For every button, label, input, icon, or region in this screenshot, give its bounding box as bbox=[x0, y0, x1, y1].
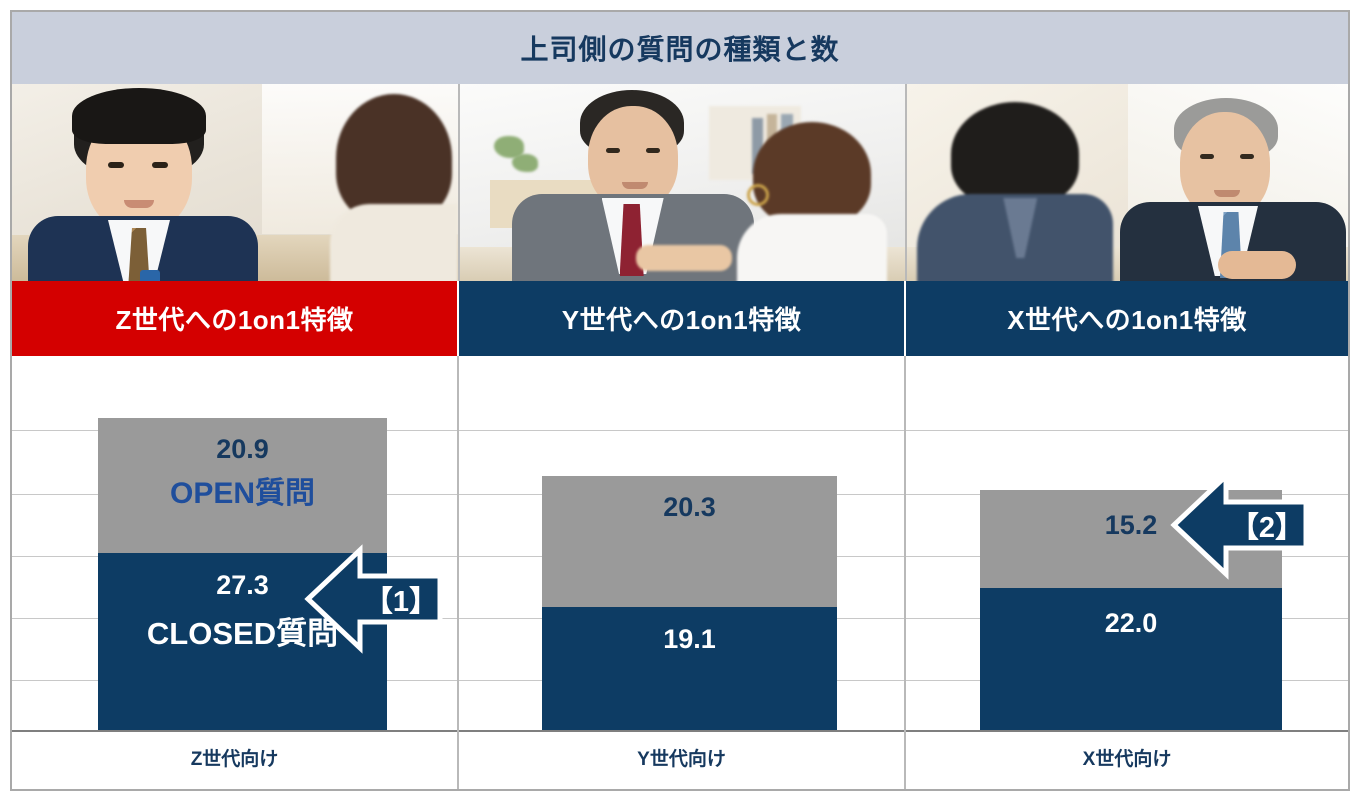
caption-band-row: Z世代への1on1特徴 Y世代への1on1特徴 X世代への1on1特徴 bbox=[12, 281, 1348, 356]
column-divider bbox=[457, 356, 459, 732]
callout-label-2: 【2】 bbox=[1228, 502, 1306, 548]
x-axis-label-z-text: Z世代向け bbox=[191, 744, 279, 771]
callout-arrow-2[interactable]: 【2】 bbox=[1170, 470, 1310, 576]
callout-arrow-1[interactable]: 【1】 bbox=[304, 544, 444, 650]
x-axis-label-row: Z世代向け Y世代向け X世代向け bbox=[12, 732, 1348, 789]
value-label-closed-y: 19.1 bbox=[542, 624, 837, 655]
x-axis-label-x-text: X世代向け bbox=[1083, 744, 1172, 771]
value-label-open-y: 20.3 bbox=[542, 492, 837, 523]
slide-frame: 上司側の質問の種類と数 bbox=[10, 10, 1350, 791]
band-y-generation[interactable]: Y世代への1on1特徴 bbox=[459, 281, 906, 356]
bar-segment-open-y[interactable]: 20.3 bbox=[542, 476, 837, 607]
photo-x-generation bbox=[907, 84, 1348, 281]
band-x-label: X世代への1on1特徴 bbox=[1007, 300, 1247, 337]
bar-segment-open-z[interactable]: 20.9 OPEN質問 bbox=[98, 418, 387, 553]
stacked-bar-chart: 20.9 OPEN質問 27.3 CLOSED質問 【1】 20.3 19.1 bbox=[12, 356, 1348, 732]
photo-strip bbox=[12, 84, 1348, 281]
band-z-generation[interactable]: Z世代への1on1特徴 bbox=[12, 281, 459, 356]
band-z-label: Z世代への1on1特徴 bbox=[115, 300, 353, 337]
series-name-open: OPEN質問 bbox=[98, 468, 387, 512]
column-divider bbox=[904, 356, 906, 732]
value-label-closed-x: 22.0 bbox=[980, 608, 1282, 639]
callout-label-1: 【1】 bbox=[362, 576, 440, 622]
bar-segment-closed-y[interactable]: 19.1 bbox=[542, 607, 837, 730]
slide-header: 上司側の質問の種類と数 bbox=[12, 12, 1348, 84]
band-x-generation[interactable]: X世代への1on1特徴 bbox=[906, 281, 1348, 356]
photo-z-generation bbox=[12, 84, 460, 281]
x-axis-label-y: Y世代向け bbox=[459, 732, 906, 789]
bar-segment-closed-x[interactable]: 22.0 bbox=[980, 588, 1282, 730]
band-y-label: Y世代への1on1特徴 bbox=[562, 300, 802, 337]
value-label-open-z: 20.9 bbox=[98, 434, 387, 465]
x-axis-label-x: X世代向け bbox=[906, 732, 1348, 789]
bar-y-generation[interactable]: 20.3 19.1 bbox=[542, 476, 837, 730]
x-axis-label-z: Z世代向け bbox=[12, 732, 459, 789]
page-title: 上司側の質問の種類と数 bbox=[12, 12, 1348, 84]
x-axis-label-y-text: Y世代向け bbox=[637, 744, 726, 771]
photo-y-generation bbox=[460, 84, 908, 281]
